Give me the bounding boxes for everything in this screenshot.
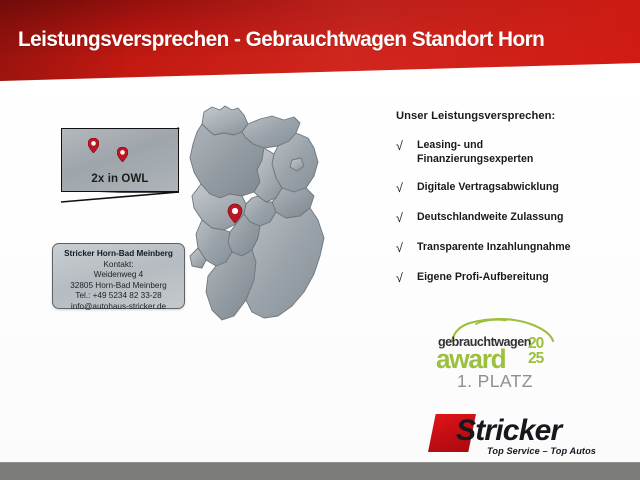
footer-bar	[0, 462, 640, 480]
promises-heading: Unser Leistungsversprechen:	[396, 110, 626, 122]
checkmark-icon: √	[396, 210, 417, 226]
award-year-top: 20	[528, 336, 558, 351]
award-year: 20 25	[528, 336, 558, 366]
header-banner: Leistungsversprechen - Gebrauchtwagen St…	[0, 0, 640, 92]
promise-item-3: √ Deutschlandweite Zulassung	[396, 210, 626, 226]
stricker-wordmark: Stricker	[456, 414, 561, 448]
page-title: Leistungsversprechen - Gebrauchtwagen St…	[18, 27, 544, 52]
promise-label-line1: Leasing- und	[417, 139, 483, 151]
award-year-bottom: 25	[528, 351, 558, 366]
address-line-email: info@autohaus-stricker.de	[57, 302, 180, 313]
promise-item-1: √ Leasing- und Finanzierungsexperten	[396, 138, 626, 166]
dealer-name: Stricker Horn-Bad Meinberg	[57, 249, 180, 260]
owl-inset-map: 2x in OWL	[61, 128, 179, 192]
stricker-logo: Stricker Top Service – Top Autos	[428, 408, 628, 460]
promise-label: Transparente Inzahlungnahme	[417, 240, 571, 254]
inset-label: 2x in OWL	[62, 173, 178, 185]
inset-location-pin-2	[117, 147, 128, 162]
promise-item-4: √ Transparente Inzahlungnahme	[396, 240, 626, 256]
stricker-tagline: Top Service – Top Autos	[487, 446, 596, 456]
address-card: Stricker Horn-Bad Meinberg Kontakt: Weid…	[52, 243, 185, 309]
checkmark-icon: √	[396, 240, 417, 256]
address-line-city: 32805 Horn-Bad Meinberg	[57, 281, 180, 292]
promise-label: Digitale Vertragsabwicklung	[417, 180, 559, 194]
promise-label-line2: Finanzierungsexperten	[417, 153, 533, 165]
promise-item-5: √ Eigene Profi-Aufbereitung	[396, 270, 626, 286]
slide-root: Leistungsversprechen - Gebrauchtwagen St…	[0, 0, 640, 480]
address-line-street: Weidenweg 4	[57, 270, 180, 281]
award-badge: gebrauchtwagen award 20 25 1. PLATZ	[432, 316, 562, 392]
checkmark-icon: √	[396, 138, 417, 154]
checkmark-icon: √	[396, 270, 417, 286]
promise-label: Eigene Profi-Aufbereitung	[417, 270, 549, 284]
inset-location-pin-1	[88, 138, 99, 153]
promise-item-2: √ Digitale Vertragsabwicklung	[396, 180, 626, 196]
award-rank: 1. PLATZ	[457, 371, 533, 392]
address-line-kontakt: Kontakt:	[57, 260, 180, 271]
footer-highlight-line	[0, 462, 640, 463]
promise-label: Leasing- und Finanzierungsexperten	[417, 138, 533, 166]
promise-label: Deutschlandweite Zulassung	[417, 210, 564, 224]
promises-section: Unser Leistungsversprechen: √ Leasing- u…	[396, 110, 626, 300]
checkmark-icon: √	[396, 180, 417, 196]
address-line-phone: Tel.: +49 5234 82 33-28	[57, 291, 180, 302]
